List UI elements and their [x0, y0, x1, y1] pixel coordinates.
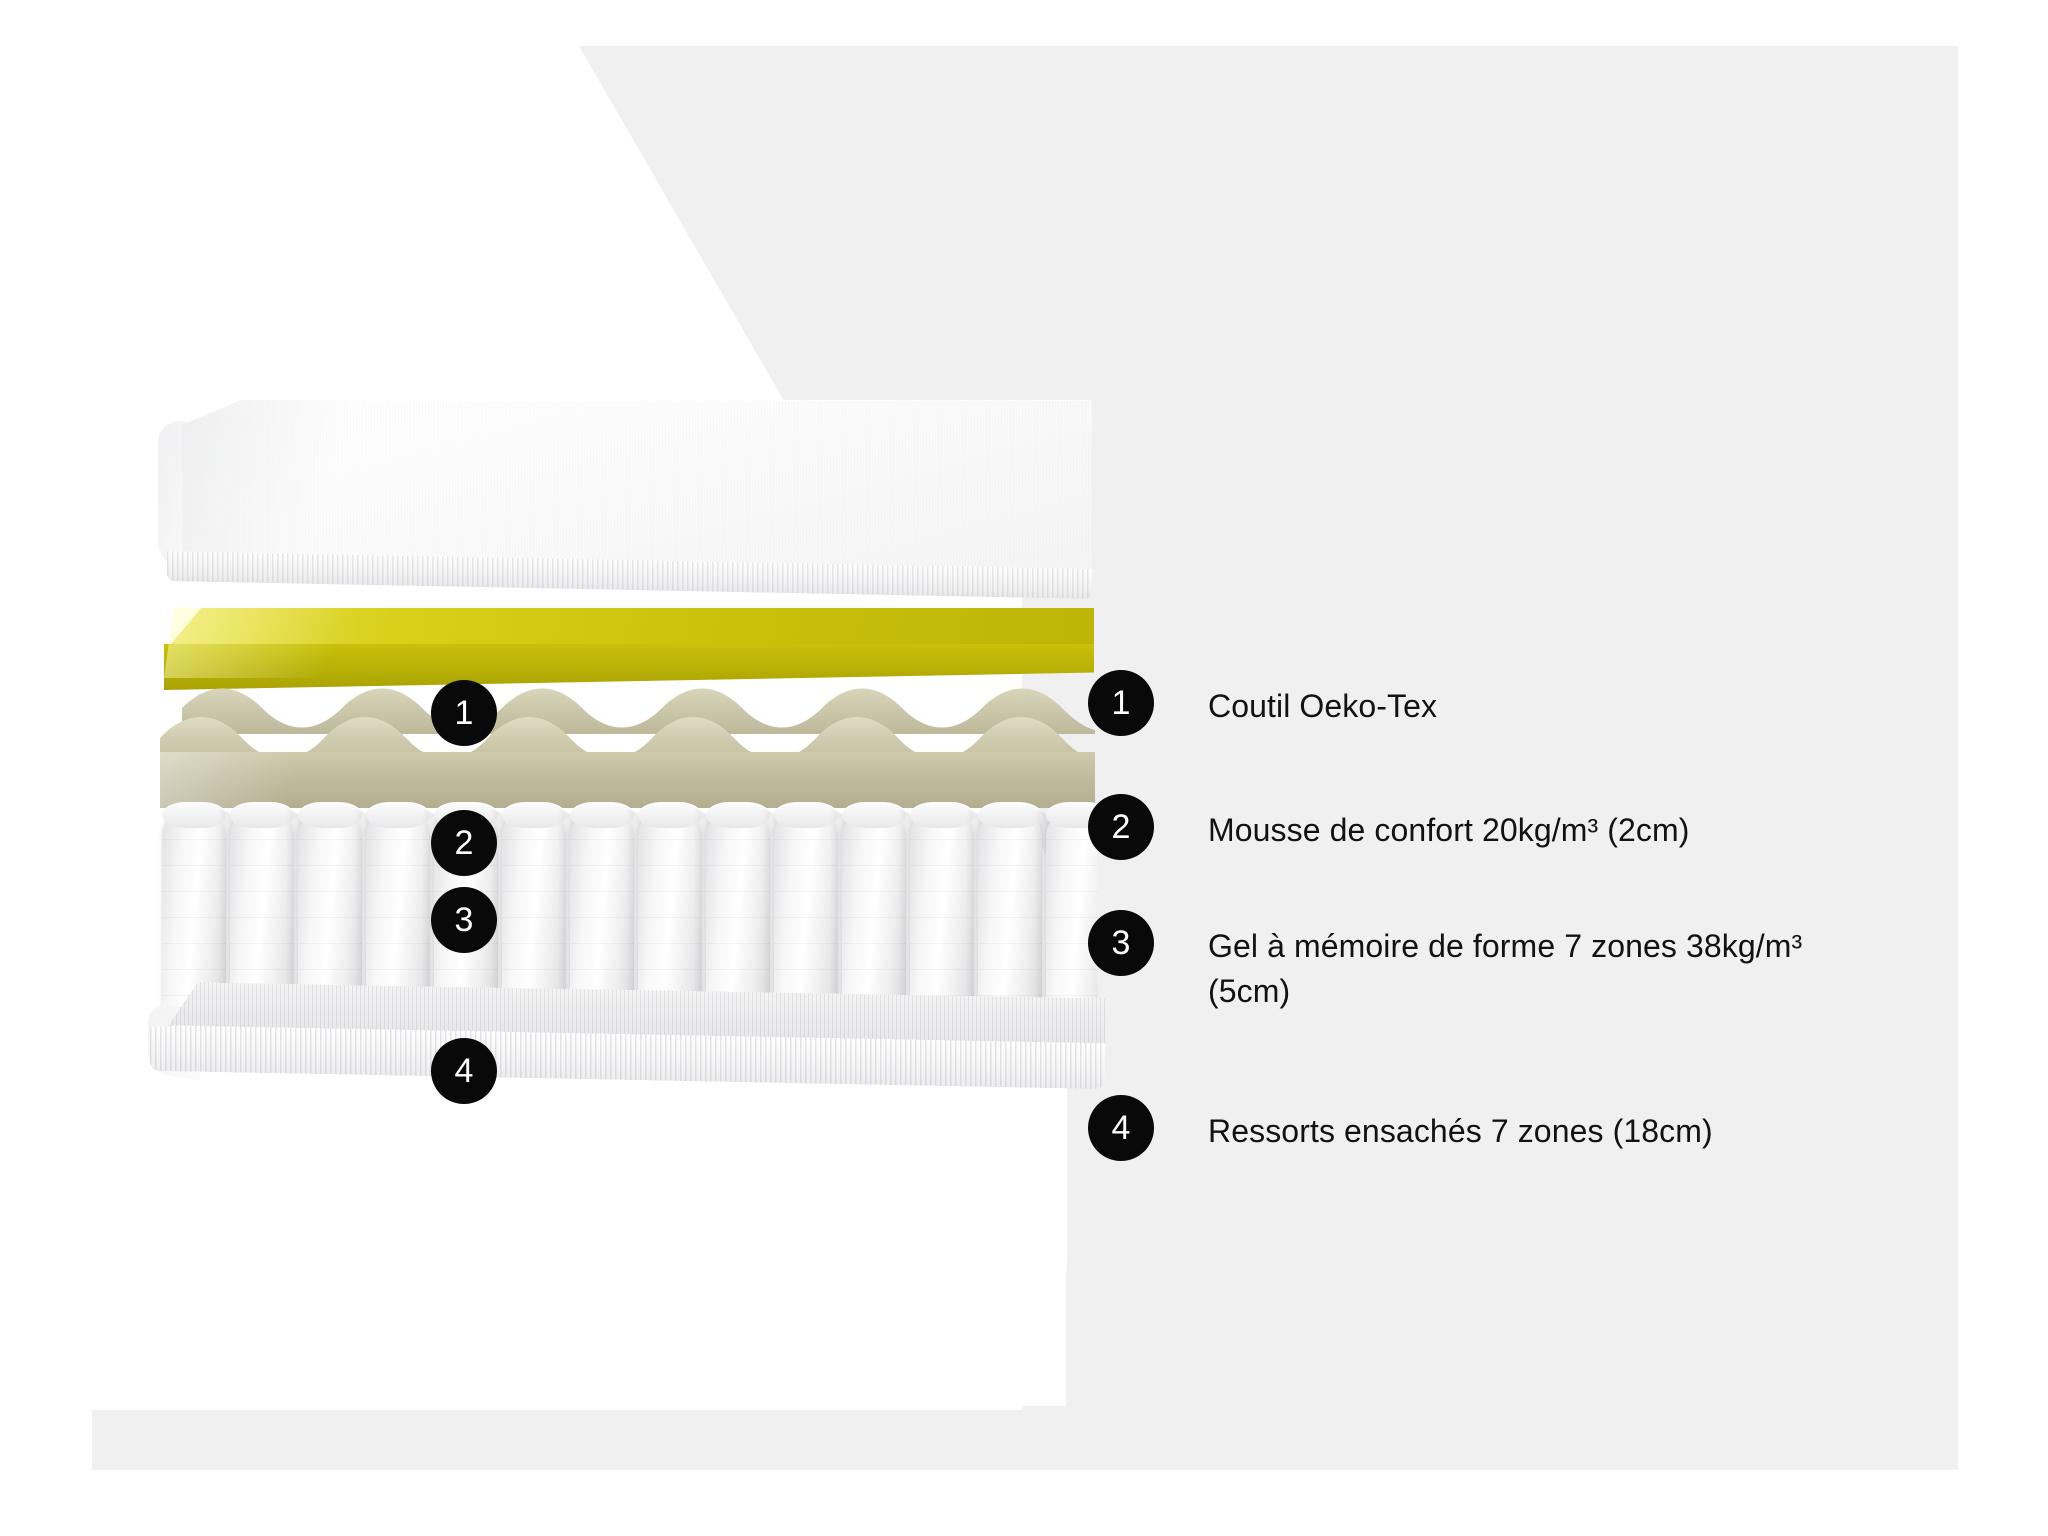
mattress-illustration: 1 2 3 4: [150, 400, 1100, 1330]
callout-badge-4[interactable]: 4: [431, 1038, 497, 1104]
layer-cover-oeko-tex: [150, 400, 1100, 610]
layer-gel-memory-foam: [160, 678, 1095, 808]
legend-label-4: Ressorts ensachés 7 zones (18cm): [1208, 1095, 1713, 1154]
legend-item-4[interactable]: 4 Ressorts ensachés 7 zones (18cm): [1088, 1095, 1713, 1161]
legend-badge-4: 4: [1088, 1095, 1154, 1161]
comfort-foam-highlight: [164, 608, 404, 678]
mattress-base-slab: [150, 990, 1105, 1095]
legend-item-2[interactable]: 2 Mousse de confort 20kg/m³ (2cm): [1088, 794, 1690, 860]
callout-badge-3[interactable]: 3: [431, 887, 497, 953]
callout-badge-1[interactable]: 1: [431, 680, 497, 746]
diagram-stage: 1 2 3 4 1 Coutil Oeko-Tex 2 Mousse de co…: [0, 0, 2048, 1536]
legend-item-3[interactable]: 3 Gel à mémoire de forme 7 zones 38kg/m³…: [1088, 910, 1828, 1015]
legend-item-1[interactable]: 1 Coutil Oeko-Tex: [1088, 670, 1437, 736]
legend-label-1: Coutil Oeko-Tex: [1208, 670, 1437, 729]
legend-badge-3: 3: [1088, 910, 1154, 976]
cover-top-face: [182, 400, 1092, 578]
legend-badge-2: 2: [1088, 794, 1154, 860]
legend-badge-1: 1: [1088, 670, 1154, 736]
callout-badge-2[interactable]: 2: [431, 810, 497, 876]
legend-label-3: Gel à mémoire de forme 7 zones 38kg/m³ (…: [1208, 910, 1828, 1015]
legend-label-2: Mousse de confort 20kg/m³ (2cm): [1208, 794, 1690, 853]
